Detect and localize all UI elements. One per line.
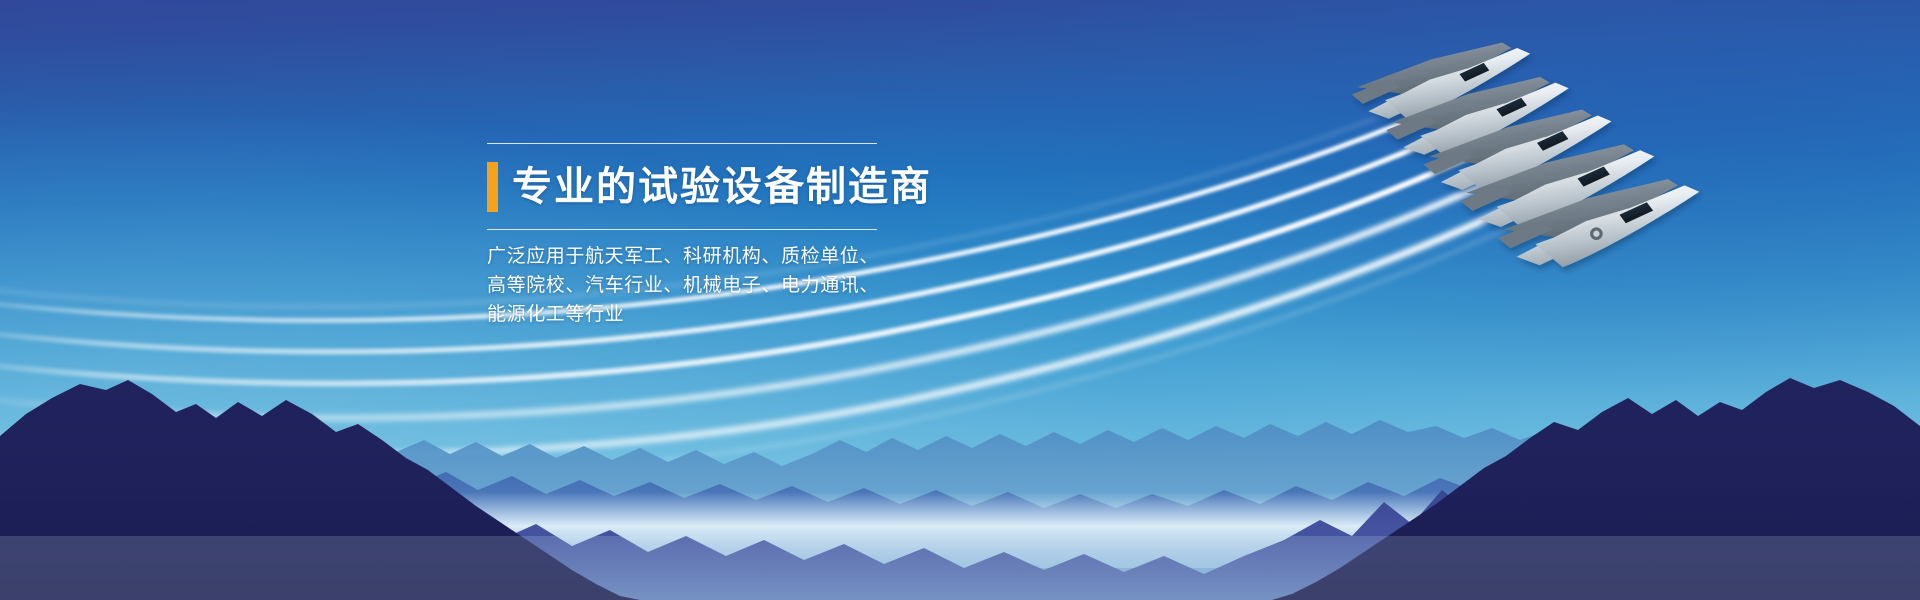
hero-title: 专业的试验设备制造商	[512, 165, 932, 209]
mountain-range-silhouette	[0, 340, 1920, 600]
divider-bottom	[487, 229, 877, 230]
divider-top	[487, 143, 877, 144]
hero-banner: 专业的试验设备制造商 广泛应用于航天军工、科研机构、质检单位、 高等院校、汽车行…	[0, 0, 1920, 600]
subtitle-line-2: 高等院校、汽车行业、机械电子、电力通讯、	[487, 271, 877, 300]
mist-lower	[0, 536, 1920, 600]
subtitle-line-1: 广泛应用于航天军工、科研机构、质检单位、	[487, 242, 877, 271]
hero-subtitle: 广泛应用于航天军工、科研机构、质检单位、 高等院校、汽车行业、机械电子、电力通讯…	[487, 242, 877, 329]
accent-bar-icon	[487, 162, 498, 212]
subtitle-line-3: 能源化工等行业	[487, 300, 877, 329]
hero-copy-block: 专业的试验设备制造商 广泛应用于航天军工、科研机构、质检单位、 高等院校、汽车行…	[487, 143, 877, 329]
hero-title-row: 专业的试验设备制造商	[487, 153, 877, 221]
fighter-jet-formation-image	[1330, 30, 1920, 330]
